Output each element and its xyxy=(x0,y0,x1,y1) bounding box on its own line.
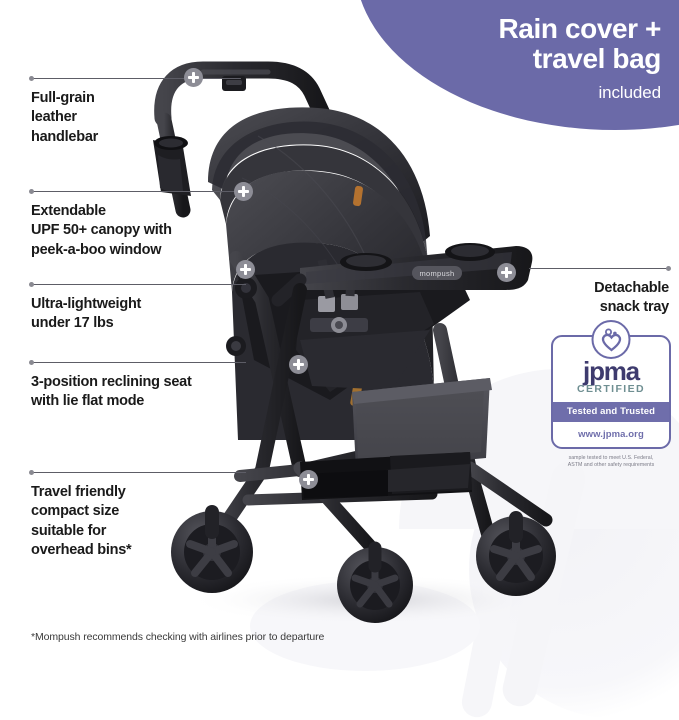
callout-handlebar-text: Full-grain leather handlebar xyxy=(31,89,241,147)
callout-canopy: Extendable UPF 50+ canopy with peek-a-bo… xyxy=(31,191,246,260)
callout-line: Ultra-lightweight xyxy=(31,295,246,314)
callout-line: under 17 lbs xyxy=(31,314,246,333)
callout-leader-line xyxy=(31,362,246,363)
jpma-fine-line: sample tested to meet U.S. Federal, xyxy=(551,455,671,463)
callout-line: 3-position reclining seat xyxy=(31,373,246,392)
plus-marker-handlebar[interactable] xyxy=(184,68,203,87)
callout-weight: Ultra-lightweight under 17 lbs xyxy=(31,284,246,334)
callout-line: compact size xyxy=(31,502,246,521)
jpma-heart-icon xyxy=(592,320,631,359)
callout-canopy-text: Extendable UPF 50+ canopy with peek-a-bo… xyxy=(31,202,246,260)
footnote: *Mompush recommends checking with airlin… xyxy=(31,631,324,643)
callout-line: handlebar xyxy=(31,128,241,147)
callout-line: peek-a-boo window xyxy=(31,241,246,260)
callout-recline: 3-position reclining seat with lie flat … xyxy=(31,362,246,412)
callout-line: suitable for xyxy=(31,522,246,541)
promo-title-line1: Rain cover + xyxy=(371,14,661,44)
jpma-fine-print: sample tested to meet U.S. Federal, ASTM… xyxy=(551,455,671,471)
plus-marker-tray[interactable] xyxy=(497,263,516,282)
callout-recline-text: 3-position reclining seat with lie flat … xyxy=(31,373,246,412)
callout-line: leather xyxy=(31,108,241,127)
jpma-certified-label: CERTIFIED xyxy=(558,383,664,395)
jpma-wordmark: jpma xyxy=(558,359,664,384)
callout-snack-tray-text: Detachable snack tray xyxy=(529,279,669,318)
jpma-fine-line: ASTM and other safety requirements xyxy=(551,462,671,470)
promo-title: Rain cover + travel bag xyxy=(371,14,661,74)
plus-marker-frame[interactable] xyxy=(236,260,255,279)
callout-leader-line xyxy=(31,284,246,285)
callout-line: Travel friendly xyxy=(31,483,246,502)
callout-weight-text: Ultra-lightweight under 17 lbs xyxy=(31,295,246,334)
plus-marker-basket[interactable] xyxy=(299,470,318,489)
callout-leader-line xyxy=(529,268,669,269)
callout-leader-line xyxy=(31,191,246,192)
jpma-card: jpma CERTIFIED Tested and Trusted www.jp… xyxy=(551,335,671,449)
jpma-url[interactable]: www.jpma.org xyxy=(558,422,664,443)
plus-marker-canopy[interactable] xyxy=(234,182,253,201)
promo-badge: Rain cover + travel bag included xyxy=(371,14,661,103)
callout-line: snack tray xyxy=(529,298,669,317)
callout-line: Detachable xyxy=(529,279,669,298)
callout-line: Full-grain xyxy=(31,89,241,108)
promo-title-line2: travel bag xyxy=(371,44,661,74)
plus-marker-seat[interactable] xyxy=(289,355,308,374)
jpma-certification-badge: jpma CERTIFIED Tested and Trusted www.jp… xyxy=(551,335,671,470)
callout-line: UPF 50+ canopy with xyxy=(31,221,246,240)
callout-compact-text: Travel friendly compact size suitable fo… xyxy=(31,483,246,560)
callout-snack-tray: Detachable snack tray xyxy=(529,268,669,318)
callout-handlebar: Full-grain leather handlebar xyxy=(31,78,241,147)
callout-leader-line xyxy=(31,472,246,473)
callout-compact: Travel friendly compact size suitable fo… xyxy=(31,472,246,560)
jpma-tested-band: Tested and Trusted xyxy=(553,402,669,422)
callout-line: with lie flat mode xyxy=(31,392,246,411)
promo-subtitle: included xyxy=(371,83,661,103)
brand-wordmark: mompush xyxy=(419,269,454,278)
callout-line: Extendable xyxy=(31,202,246,221)
callout-line: overhead bins* xyxy=(31,541,246,560)
callout-leader-line xyxy=(31,78,241,79)
